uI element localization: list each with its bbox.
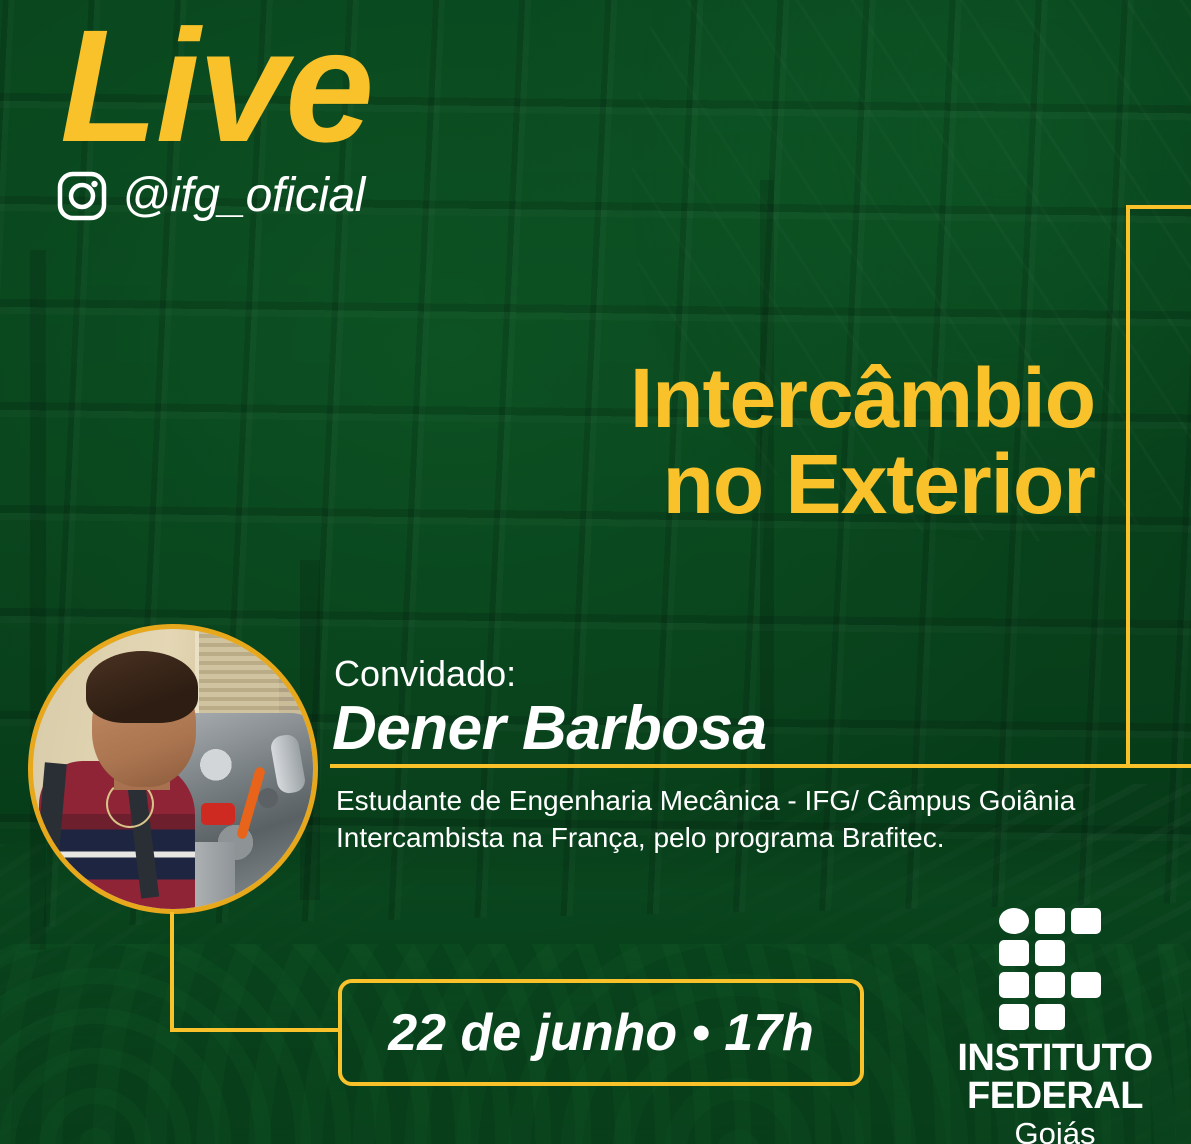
logo-cell [1035, 972, 1065, 998]
instituto-federal-mark-icon [999, 908, 1111, 1030]
avatar [28, 624, 318, 914]
connector-line-horizontal [170, 1028, 342, 1032]
page-title: Intercâmbio no Exterior [375, 356, 1095, 527]
logo-cell [1035, 1004, 1065, 1030]
logo-institution-name: INSTITUTO FEDERAL [957, 1040, 1152, 1115]
page-title-line-1: Intercâmbio [375, 356, 1095, 442]
status-badge: 22 de junho • 17h [338, 979, 864, 1086]
instagram-icon [56, 170, 108, 222]
speaker-label: Convidado: [334, 656, 516, 692]
logo-cell [999, 908, 1029, 934]
speaker-description-line-2: Intercambista na França, pelo programa B… [336, 819, 1096, 856]
connector-line-vertical [170, 912, 174, 1032]
live-label: Live [60, 6, 372, 166]
logo-cell [1071, 940, 1101, 966]
logo-state-name: Goiás [1015, 1117, 1096, 1144]
logo-cell [1035, 940, 1065, 966]
logo-name-line-2: FEDERAL [957, 1078, 1152, 1116]
logo-cell [999, 972, 1029, 998]
event-date-time: 22 de junho • 17h [388, 1003, 814, 1063]
speaker-description-line-1: Estudante de Engenharia Mecânica - IFG/ … [336, 782, 1096, 819]
logo-cell [1071, 972, 1101, 998]
instagram-handle-row[interactable]: @ifg_oficial [56, 168, 365, 223]
logo-cell [999, 940, 1029, 966]
speaker-description: Estudante de Engenharia Mecânica - IFG/ … [336, 782, 1096, 856]
speaker-name: Dener Barbosa [332, 696, 767, 761]
page-title-line-2: no Exterior [375, 442, 1095, 528]
logo-name-line-1: INSTITUTO [957, 1040, 1152, 1078]
live-announcement-poster: Live @ifg_oficial Intercâmbio no Exterio… [0, 0, 1191, 1144]
decorative-frame-right [1126, 205, 1191, 768]
instituto-federal-logo: INSTITUTO FEDERAL Goiás [930, 908, 1180, 1144]
logo-cell [999, 1004, 1029, 1030]
decorative-frame-divider [330, 764, 1130, 768]
logo-cell [1071, 1004, 1101, 1030]
logo-cell [1071, 908, 1101, 934]
photo-person-hair [86, 651, 198, 723]
instagram-handle-text: @ifg_oficial [122, 168, 365, 223]
logo-cell [1035, 908, 1065, 934]
avatar-image [33, 629, 313, 909]
photo-engine-cap [201, 803, 235, 825]
